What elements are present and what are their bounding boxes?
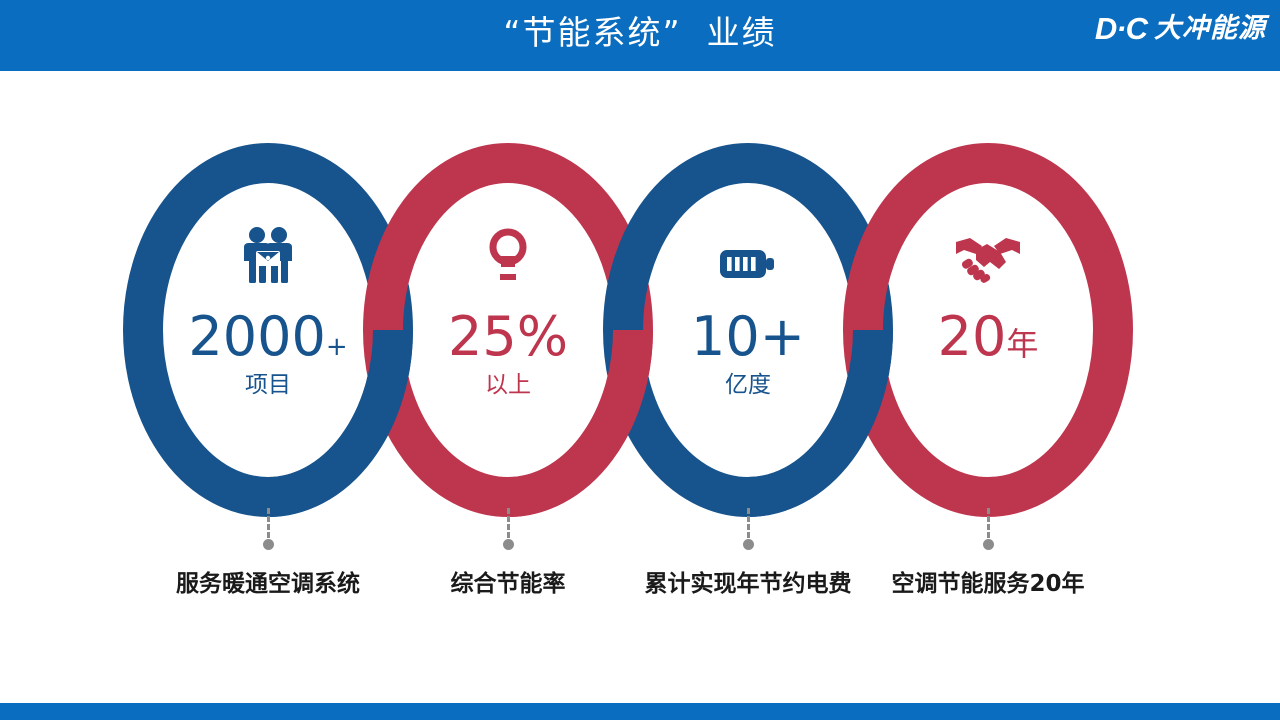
connector-4 bbox=[976, 508, 1000, 550]
battery-icon bbox=[638, 222, 858, 284]
stat-card-3: 10+ 亿度 bbox=[638, 222, 858, 397]
stat-number-4: 20 bbox=[938, 305, 1007, 368]
stat-card-4: 20年 bbox=[878, 222, 1098, 374]
stat-value-4: 20年 bbox=[878, 310, 1098, 364]
connector-dash-1 bbox=[267, 508, 270, 538]
stat-suffix-1: + bbox=[326, 332, 348, 362]
rings-infographic: 2000+ 项目 25% 以上 bbox=[0, 0, 1280, 720]
stat-number-3: 10+ bbox=[691, 305, 805, 368]
stat-value-2: 25% bbox=[398, 310, 618, 364]
stat-value-3: 10+ bbox=[638, 310, 858, 364]
handshake-icon bbox=[878, 222, 1098, 284]
connector-dash-4 bbox=[987, 508, 990, 538]
connector-dot-3 bbox=[743, 539, 754, 550]
stat-number-2: 25% bbox=[448, 305, 568, 368]
connector-dot-1 bbox=[263, 539, 274, 550]
stat-card-1: 2000+ 项目 bbox=[158, 222, 378, 397]
stat-suffix-4: 年 bbox=[1006, 325, 1038, 363]
footer-bar bbox=[0, 703, 1280, 720]
connector-3 bbox=[736, 508, 760, 550]
connector-dash-3 bbox=[747, 508, 750, 538]
connector-dot-2 bbox=[503, 539, 514, 550]
lightbulb-icon bbox=[398, 222, 618, 284]
stat-sub-1: 项目 bbox=[158, 374, 378, 397]
connector-2 bbox=[496, 508, 520, 550]
caption-4: 空调节能服务20年 bbox=[828, 564, 1148, 598]
stat-value-1: 2000+ bbox=[158, 310, 378, 364]
connector-dot-4 bbox=[983, 539, 994, 550]
stat-number-1: 2000 bbox=[188, 305, 325, 368]
stat-sub-3: 亿度 bbox=[638, 374, 858, 397]
stat-sub-2: 以上 bbox=[398, 374, 618, 397]
connector-1 bbox=[256, 508, 280, 550]
two-people-icon bbox=[158, 222, 378, 284]
stat-card-2: 25% 以上 bbox=[398, 222, 618, 397]
connector-dash-2 bbox=[507, 508, 510, 538]
